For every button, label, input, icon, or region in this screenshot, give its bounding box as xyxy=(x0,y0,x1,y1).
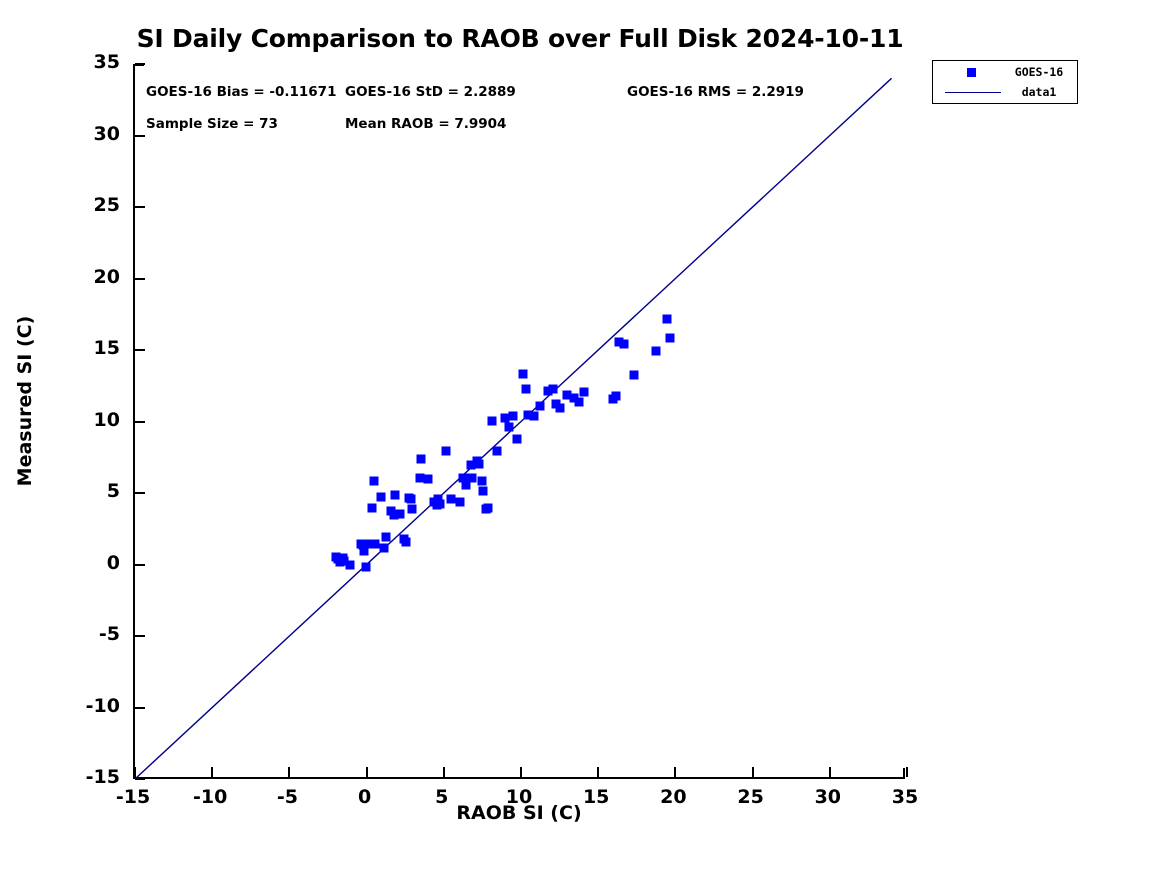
scatter-point xyxy=(630,371,639,380)
scatter-point xyxy=(483,504,492,513)
x-tick-label: 10 xyxy=(506,786,532,808)
scatter-point xyxy=(665,333,674,342)
scatter-point xyxy=(408,505,417,514)
y-tick xyxy=(135,421,145,423)
x-tick xyxy=(443,767,445,777)
y-tick-label: 15 xyxy=(0,337,120,359)
y-tick xyxy=(135,564,145,566)
scatter-point xyxy=(368,504,377,513)
scatter-point xyxy=(417,455,426,464)
y-tick xyxy=(135,206,145,208)
scatter-point xyxy=(468,473,477,482)
legend-entry-goes16[interactable]: GOES-16 xyxy=(933,62,1077,83)
x-tick xyxy=(597,767,599,777)
scatter-point xyxy=(652,346,661,355)
x-tick xyxy=(134,767,136,777)
x-tick xyxy=(288,767,290,777)
scatter-point xyxy=(391,491,400,500)
scatter-point xyxy=(574,398,583,407)
y-tick xyxy=(135,278,145,280)
y-tick xyxy=(135,778,145,780)
scatter-point xyxy=(477,476,486,485)
scatter-point xyxy=(536,402,545,411)
y-tick xyxy=(135,635,145,637)
scatter-point xyxy=(406,495,415,504)
x-tick xyxy=(829,767,831,777)
x-tick-label: -10 xyxy=(193,786,227,808)
scatter-point xyxy=(530,412,539,421)
y-tick xyxy=(135,63,145,65)
scatter-point xyxy=(423,475,432,484)
x-tick xyxy=(520,767,522,777)
scatter-point xyxy=(548,385,557,394)
y-tick-label: 35 xyxy=(0,51,120,73)
scatter-point xyxy=(493,446,502,455)
scatter-point xyxy=(505,422,514,431)
x-tick-label: 5 xyxy=(435,786,448,808)
plot-area xyxy=(133,64,905,779)
scatter-point xyxy=(508,412,517,421)
x-tick xyxy=(906,767,908,777)
scatter-point xyxy=(369,476,378,485)
y-tick-label: 30 xyxy=(0,123,120,145)
scatter-point xyxy=(488,416,497,425)
scatter-point xyxy=(456,498,465,507)
scatter-point xyxy=(377,492,386,501)
scatter-point xyxy=(435,499,444,508)
y-tick-label: -5 xyxy=(0,623,120,645)
y-tick-label: 10 xyxy=(0,409,120,431)
x-tick-label: 20 xyxy=(660,786,686,808)
x-tick xyxy=(752,767,754,777)
y-tick xyxy=(135,492,145,494)
scatter-point xyxy=(579,388,588,397)
scatter-point xyxy=(522,385,531,394)
scatter-point xyxy=(446,495,455,504)
series-canvas xyxy=(135,64,907,779)
scatter-point xyxy=(479,486,488,495)
scatter-point xyxy=(442,446,451,455)
x-tick-label: -15 xyxy=(116,786,150,808)
x-tick xyxy=(674,767,676,777)
scatter-point xyxy=(662,315,671,324)
scatter-point xyxy=(611,392,620,401)
x-tick-label: 30 xyxy=(815,786,841,808)
scatter-point xyxy=(381,532,390,541)
y-tick xyxy=(135,707,145,709)
x-tick-label: -5 xyxy=(277,786,298,808)
chart-legend: GOES-16 data1 xyxy=(932,60,1078,104)
legend-entry-data1[interactable]: data1 xyxy=(933,82,1077,103)
line-marker-icon xyxy=(945,92,1001,93)
plot-inner xyxy=(135,64,905,777)
legend-label-goes16: GOES-16 xyxy=(1003,65,1075,79)
x-tick-label: 25 xyxy=(737,786,763,808)
y-tick-label: 20 xyxy=(0,266,120,288)
y-axis-label: Measured SI (C) xyxy=(14,191,36,611)
x-tick-label: 15 xyxy=(583,786,609,808)
scatter-point xyxy=(371,539,380,548)
y-tick-label: 25 xyxy=(0,194,120,216)
scatter-point xyxy=(556,403,565,412)
scatter-point xyxy=(395,509,404,518)
legend-label-data1: data1 xyxy=(1003,85,1075,99)
y-tick-label: -15 xyxy=(0,766,120,788)
scatter-point xyxy=(361,562,370,571)
x-tick-label: 35 xyxy=(892,786,918,808)
x-tick-label: 0 xyxy=(358,786,371,808)
y-tick-label: 0 xyxy=(0,552,120,574)
chart-figure: SI Daily Comparison to RAOB over Full Di… xyxy=(0,0,1167,875)
y-tick xyxy=(135,135,145,137)
square-marker-icon xyxy=(967,68,976,77)
scatter-point xyxy=(619,339,628,348)
scatter-point xyxy=(401,538,410,547)
scatter-point xyxy=(519,369,528,378)
scatter-point xyxy=(380,544,389,553)
y-tick xyxy=(135,349,145,351)
scatter-point xyxy=(474,459,483,468)
y-tick-label: 5 xyxy=(0,480,120,502)
x-tick xyxy=(211,767,213,777)
x-tick xyxy=(366,767,368,777)
scatter-point xyxy=(513,435,522,444)
chart-title: SI Daily Comparison to RAOB over Full Di… xyxy=(0,24,1040,53)
scatter-point xyxy=(346,561,355,570)
y-tick-label: -10 xyxy=(0,695,120,717)
